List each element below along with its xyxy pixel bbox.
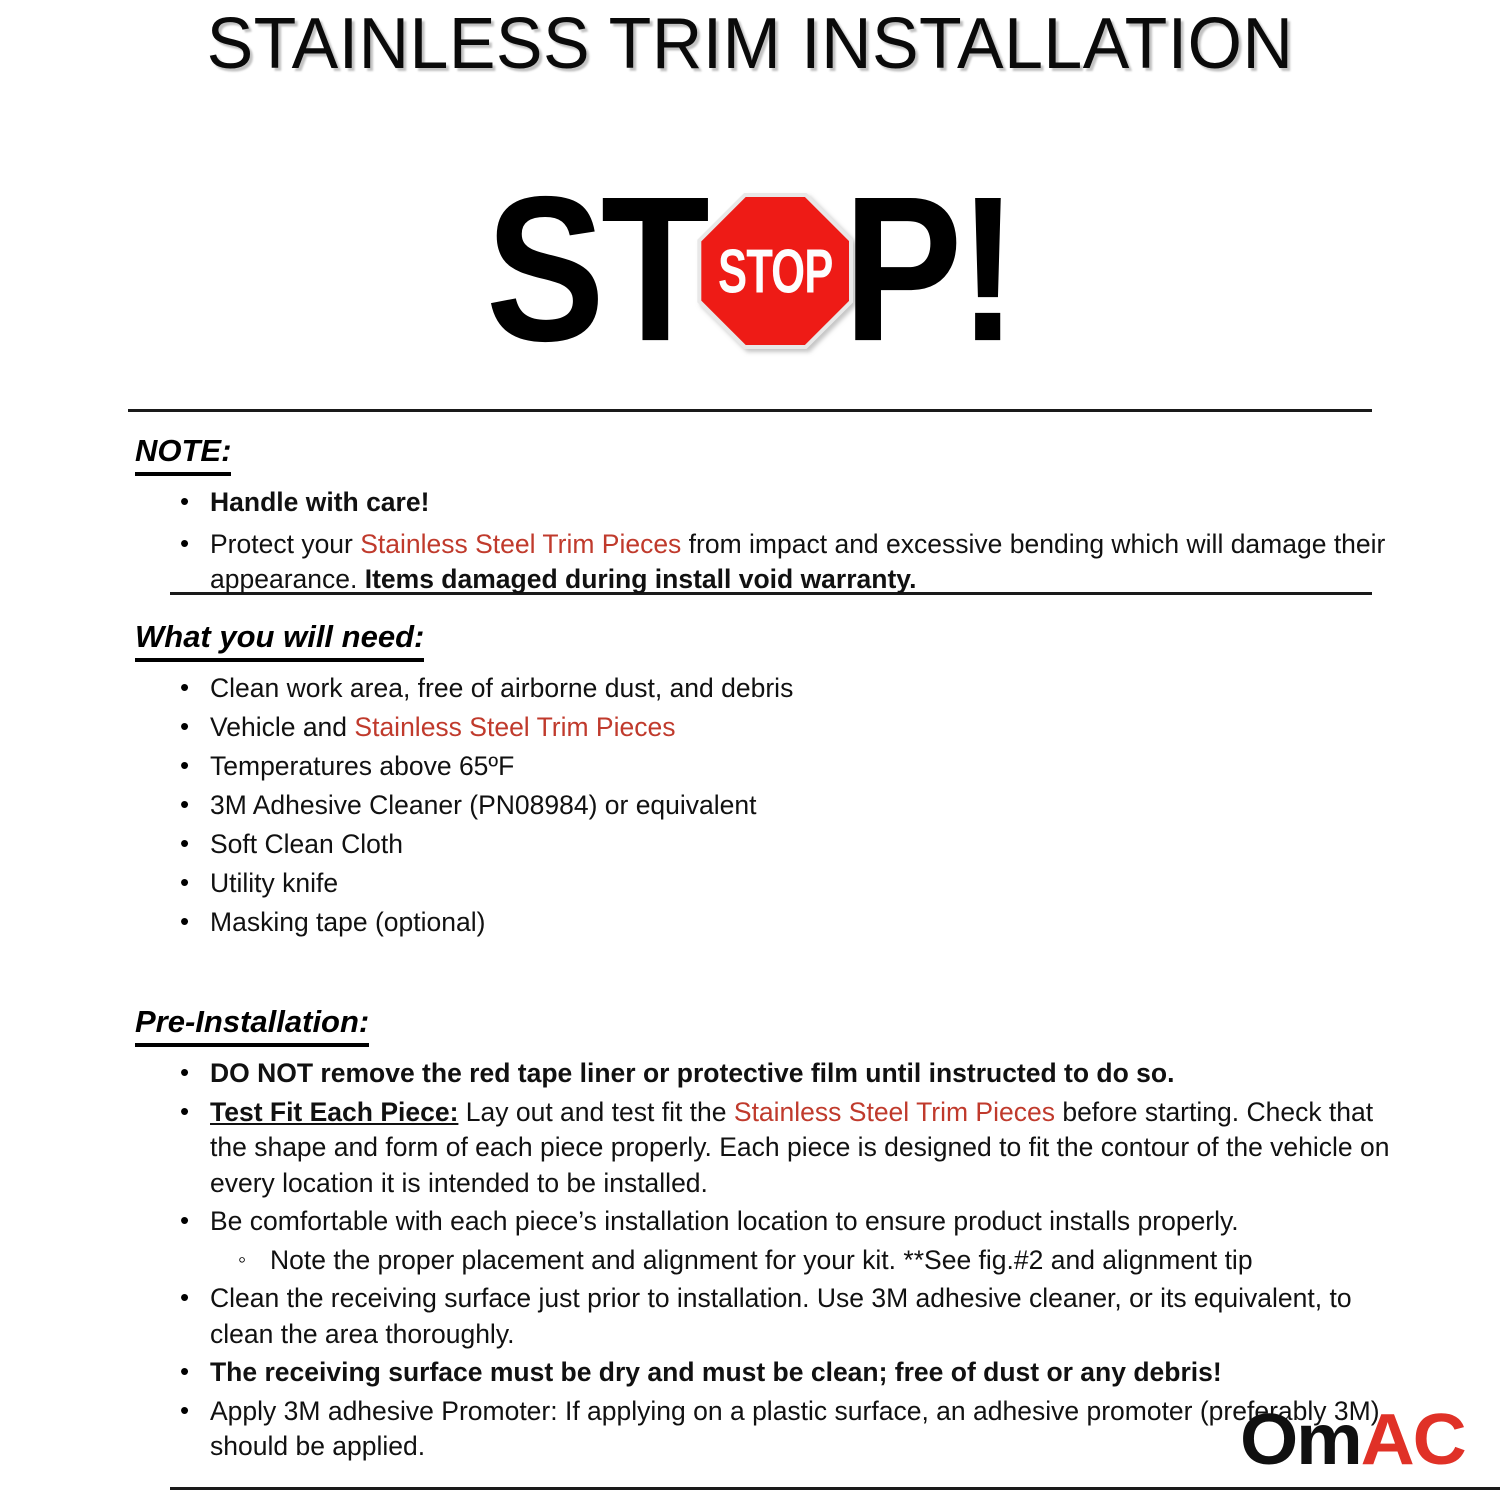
list-item: The receiving surface must be dry and mu…: [158, 1355, 1408, 1391]
divider-top: [128, 409, 1372, 412]
stop-sign-icon: STOP: [697, 193, 853, 349]
list-item-sub: Note the proper placement and alignment …: [158, 1243, 1408, 1279]
note-item-1-red: Stainless Steel Trim Pieces: [360, 529, 681, 559]
note-item-1-pre: Protect your: [210, 529, 360, 559]
need-item-3-text: 3M Adhesive Cleaner (PN08984) or equival…: [210, 790, 757, 820]
list-item: Be comfortable with each piece’s install…: [158, 1204, 1408, 1240]
list-item: Apply 3M adhesive Promoter: If applying …: [158, 1394, 1408, 1465]
page-title: STAINLESS TRIM INSTALLATION: [23, 8, 1478, 80]
list-item: Soft Clean Cloth: [158, 827, 1308, 863]
stop-banner-graphic: ST STOP P!: [0, 176, 1500, 366]
need-item-6-text: Masking tape (optional): [210, 907, 485, 937]
pre-item-1-lead: Test Fit Each Piece:: [210, 1097, 458, 1127]
note-item-1-bold: Items damaged during install void warran…: [365, 564, 917, 594]
list-item: Clean the receiving surface just prior t…: [158, 1281, 1408, 1352]
omac-logo: OmAC: [1240, 1404, 1465, 1476]
heading-what-you-will-need: What you will need:: [135, 619, 424, 662]
pre-item-3-text: Note the proper placement and alignment …: [270, 1245, 1253, 1275]
list-item: Clean work area, free of airborne dust, …: [158, 671, 1308, 707]
stop-letters-left: ST: [486, 182, 706, 359]
list-item: Vehicle and Stainless Steel Trim Pieces: [158, 710, 1308, 746]
list-item: 3M Adhesive Cleaner (PN08984) or equival…: [158, 788, 1308, 824]
pre-item-6-text: Apply 3M adhesive Promoter: If applying …: [210, 1396, 1380, 1462]
stop-sign-label: STOP: [718, 239, 832, 301]
need-item-1-red: Stainless Steel Trim Pieces: [354, 712, 675, 742]
list-item: Handle with care!: [158, 485, 1388, 521]
heading-pre-installation: Pre-Installation:: [135, 1004, 369, 1047]
pre-item-5-text: The receiving surface must be dry and mu…: [210, 1357, 1222, 1387]
pre-item-0-text: DO NOT remove the red tape liner or prot…: [210, 1058, 1174, 1088]
pre-item-1-pre: Lay out and test fit the: [458, 1097, 733, 1127]
list-item: Temperatures above 65ºF: [158, 749, 1308, 785]
what-you-need-list: Clean work area, free of airborne dust, …: [158, 671, 1308, 944]
note-list: Handle with care! Protect your Stainless…: [158, 485, 1388, 604]
need-item-2-text: Temperatures above 65ºF: [210, 751, 514, 781]
list-item: Test Fit Each Piece: Lay out and test fi…: [158, 1095, 1408, 1202]
pre-item-1-red: Stainless Steel Trim Pieces: [734, 1097, 1055, 1127]
omac-logo-black-part: Om: [1240, 1400, 1361, 1480]
omac-logo-red-part: AC: [1361, 1400, 1465, 1480]
need-item-5-text: Utility knife: [210, 868, 338, 898]
stop-wordmark: ST STOP P!: [488, 176, 1013, 366]
list-item: DO NOT remove the red tape liner or prot…: [158, 1056, 1408, 1092]
need-item-1-pre: Vehicle and: [210, 712, 354, 742]
pre-item-2-text: Be comfortable with each piece’s install…: [210, 1206, 1239, 1236]
divider-bottom: [170, 1487, 1500, 1490]
need-item-4-text: Soft Clean Cloth: [210, 829, 403, 859]
note-item-0-text: Handle with care!: [210, 487, 429, 517]
list-item: Utility knife: [158, 866, 1308, 902]
list-item: Protect your Stainless Steel Trim Pieces…: [158, 527, 1388, 598]
list-item: Masking tape (optional): [158, 905, 1308, 941]
stop-letters-right: P!: [844, 182, 1014, 359]
need-item-0-text: Clean work area, free of airborne dust, …: [210, 673, 793, 703]
pre-installation-list: DO NOT remove the red tape liner or prot…: [158, 1056, 1408, 1468]
document-page: STAINLESS TRIM INSTALLATION ST STOP P! N…: [0, 0, 1500, 1500]
pre-item-4-text: Clean the receiving surface just prior t…: [210, 1283, 1352, 1349]
heading-note: NOTE:: [135, 433, 231, 476]
